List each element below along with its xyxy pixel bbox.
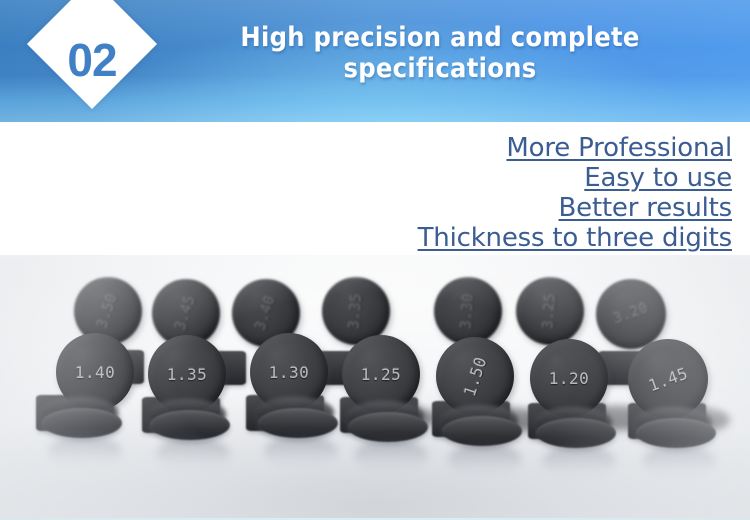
foreground-disc bbox=[150, 410, 230, 440]
feature-list: More Professional Easy to use Better res… bbox=[312, 133, 732, 253]
disc-front-5-label: 1.20 bbox=[549, 369, 590, 388]
disc-back-4: 3.30 bbox=[434, 277, 502, 345]
section-number-label: 02 bbox=[26, 0, 156, 122]
disc-back-4-label: 3.30 bbox=[459, 293, 477, 330]
disc-back-1-label: 3.45 bbox=[173, 294, 199, 333]
disc-back-5: 3.25 bbox=[516, 277, 584, 345]
disc-reflection bbox=[642, 445, 716, 479]
disc-front-6-label: 1.45 bbox=[646, 363, 691, 395]
disc-back-6: 3.20 bbox=[596, 279, 666, 349]
disc-front-2-label: 1.30 bbox=[269, 363, 310, 382]
disc-front-0-label: 1.40 bbox=[75, 363, 116, 382]
feature-item-0: More Professional bbox=[312, 133, 732, 163]
disc-reflection bbox=[264, 435, 338, 469]
header-banner: 02 High precision and complete specifica… bbox=[0, 0, 750, 122]
foreground-disc bbox=[636, 418, 716, 448]
feature-item-2-label: Better results bbox=[559, 193, 732, 223]
feature-item-1-label: Easy to use bbox=[584, 163, 732, 193]
disc-back-0-label: 3.50 bbox=[95, 292, 121, 331]
foreground-disc bbox=[348, 412, 428, 442]
disc-back-6-label: 3.20 bbox=[611, 300, 650, 327]
disc-reflection bbox=[48, 435, 122, 469]
feature-item-2: Better results bbox=[312, 193, 732, 223]
section-number-badge: 02 bbox=[26, 0, 156, 122]
foreground-disc bbox=[536, 418, 616, 448]
foreground-disc bbox=[258, 408, 338, 438]
disc-reflection bbox=[542, 445, 616, 479]
disc-reflection bbox=[448, 443, 522, 477]
disc-front-4: 1.50 bbox=[436, 337, 514, 415]
banner-title: High precision and complete specificatio… bbox=[179, 22, 701, 84]
disc-back-2-label: 3.40 bbox=[253, 294, 279, 333]
disc-reflection bbox=[156, 437, 230, 471]
foreground-disc bbox=[442, 416, 522, 446]
disc-front-3-label: 1.25 bbox=[361, 365, 402, 384]
disc-back-3-label: 3.35 bbox=[347, 293, 365, 330]
disc-front-1-label: 1.35 bbox=[167, 365, 208, 384]
feature-item-0-label: More Professional bbox=[506, 133, 732, 163]
disc-front-5: 1.20 bbox=[530, 339, 608, 417]
promo-banner-page: 02 High precision and complete specifica… bbox=[0, 0, 750, 520]
feature-item-3: Thickness to three digits bbox=[312, 223, 732, 253]
disc-front-4-label: 1.50 bbox=[460, 354, 491, 398]
feature-item-1: Easy to use bbox=[312, 163, 732, 193]
disc-reflection bbox=[354, 439, 428, 473]
product-photo: 3.50 3.45 3.40 3.35 3.30 3.25 3.20 1.40 bbox=[0, 255, 750, 520]
foreground-disc bbox=[42, 408, 122, 438]
feature-item-3-label: Thickness to three digits bbox=[418, 223, 732, 253]
disc-back-5-label: 3.25 bbox=[541, 293, 559, 330]
banner-title-line1: High precision and complete bbox=[240, 22, 639, 53]
banner-title-line2: specifications bbox=[179, 53, 701, 84]
